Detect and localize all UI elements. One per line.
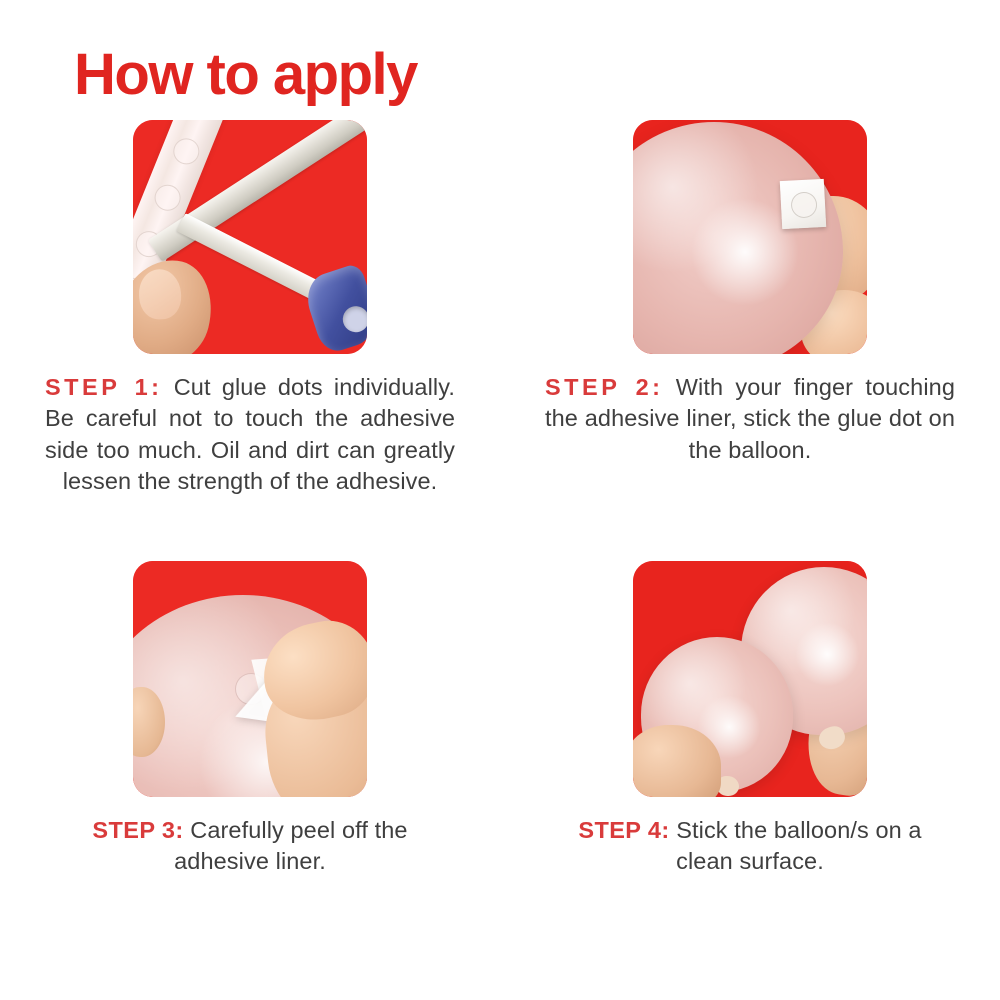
step-1-caption: STEP 1: Cut glue dots individually. Be c… — [45, 372, 455, 497]
step-2-caption: STEP 2: With your finger touching the ad… — [545, 372, 955, 466]
step-4-label: STEP 4: — [578, 817, 669, 843]
glue-dot-icon — [169, 134, 203, 168]
step-1-photo — [133, 120, 367, 354]
step-3-photo — [133, 561, 367, 797]
step-3-label: STEP 3: — [92, 817, 183, 843]
step-3-caption: STEP 3: Carefully peel off the adhesive … — [50, 815, 450, 878]
glue-dot-square-icon — [780, 179, 826, 229]
step-4-caption: STEP 4: Stick the balloon/s on a clean s… — [550, 815, 950, 878]
page-title: How to apply — [74, 46, 417, 104]
step-cell-4: STEP 4: Stick the balloon/s on a clean s… — [500, 561, 1000, 878]
step-3-text: Carefully peel off the adhesive liner. — [174, 817, 407, 874]
scissors-handle-hole-icon — [339, 303, 367, 336]
steps-grid: STEP 1: Cut glue dots individually. Be c… — [0, 120, 1000, 878]
row-spacer — [0, 497, 1000, 561]
step-4-text: Stick the balloon/s on a clean surface. — [676, 817, 921, 874]
step-3-photo-scene — [133, 561, 367, 797]
glue-dot-icon — [790, 191, 817, 218]
step-cell-3: STEP 3: Carefully peel off the adhesive … — [0, 561, 500, 878]
step-1-photo-scene — [133, 120, 367, 354]
thumbnail-icon — [137, 268, 182, 321]
step-2-label: STEP 2: — [545, 374, 663, 400]
steps-row-top: STEP 1: Cut glue dots individually. Be c… — [0, 120, 1000, 497]
step-4-photo-scene — [633, 561, 867, 797]
step-2-photo — [633, 120, 867, 354]
step-2-photo-scene — [633, 120, 867, 354]
steps-row-bottom: STEP 3: Carefully peel off the adhesive … — [0, 561, 1000, 878]
step-4-photo — [633, 561, 867, 797]
step-cell-1: STEP 1: Cut glue dots individually. Be c… — [0, 120, 500, 497]
step-1-label: STEP 1: — [45, 374, 162, 400]
glue-dot-icon — [151, 181, 185, 215]
step-cell-2: STEP 2: With your finger touching the ad… — [500, 120, 1000, 497]
